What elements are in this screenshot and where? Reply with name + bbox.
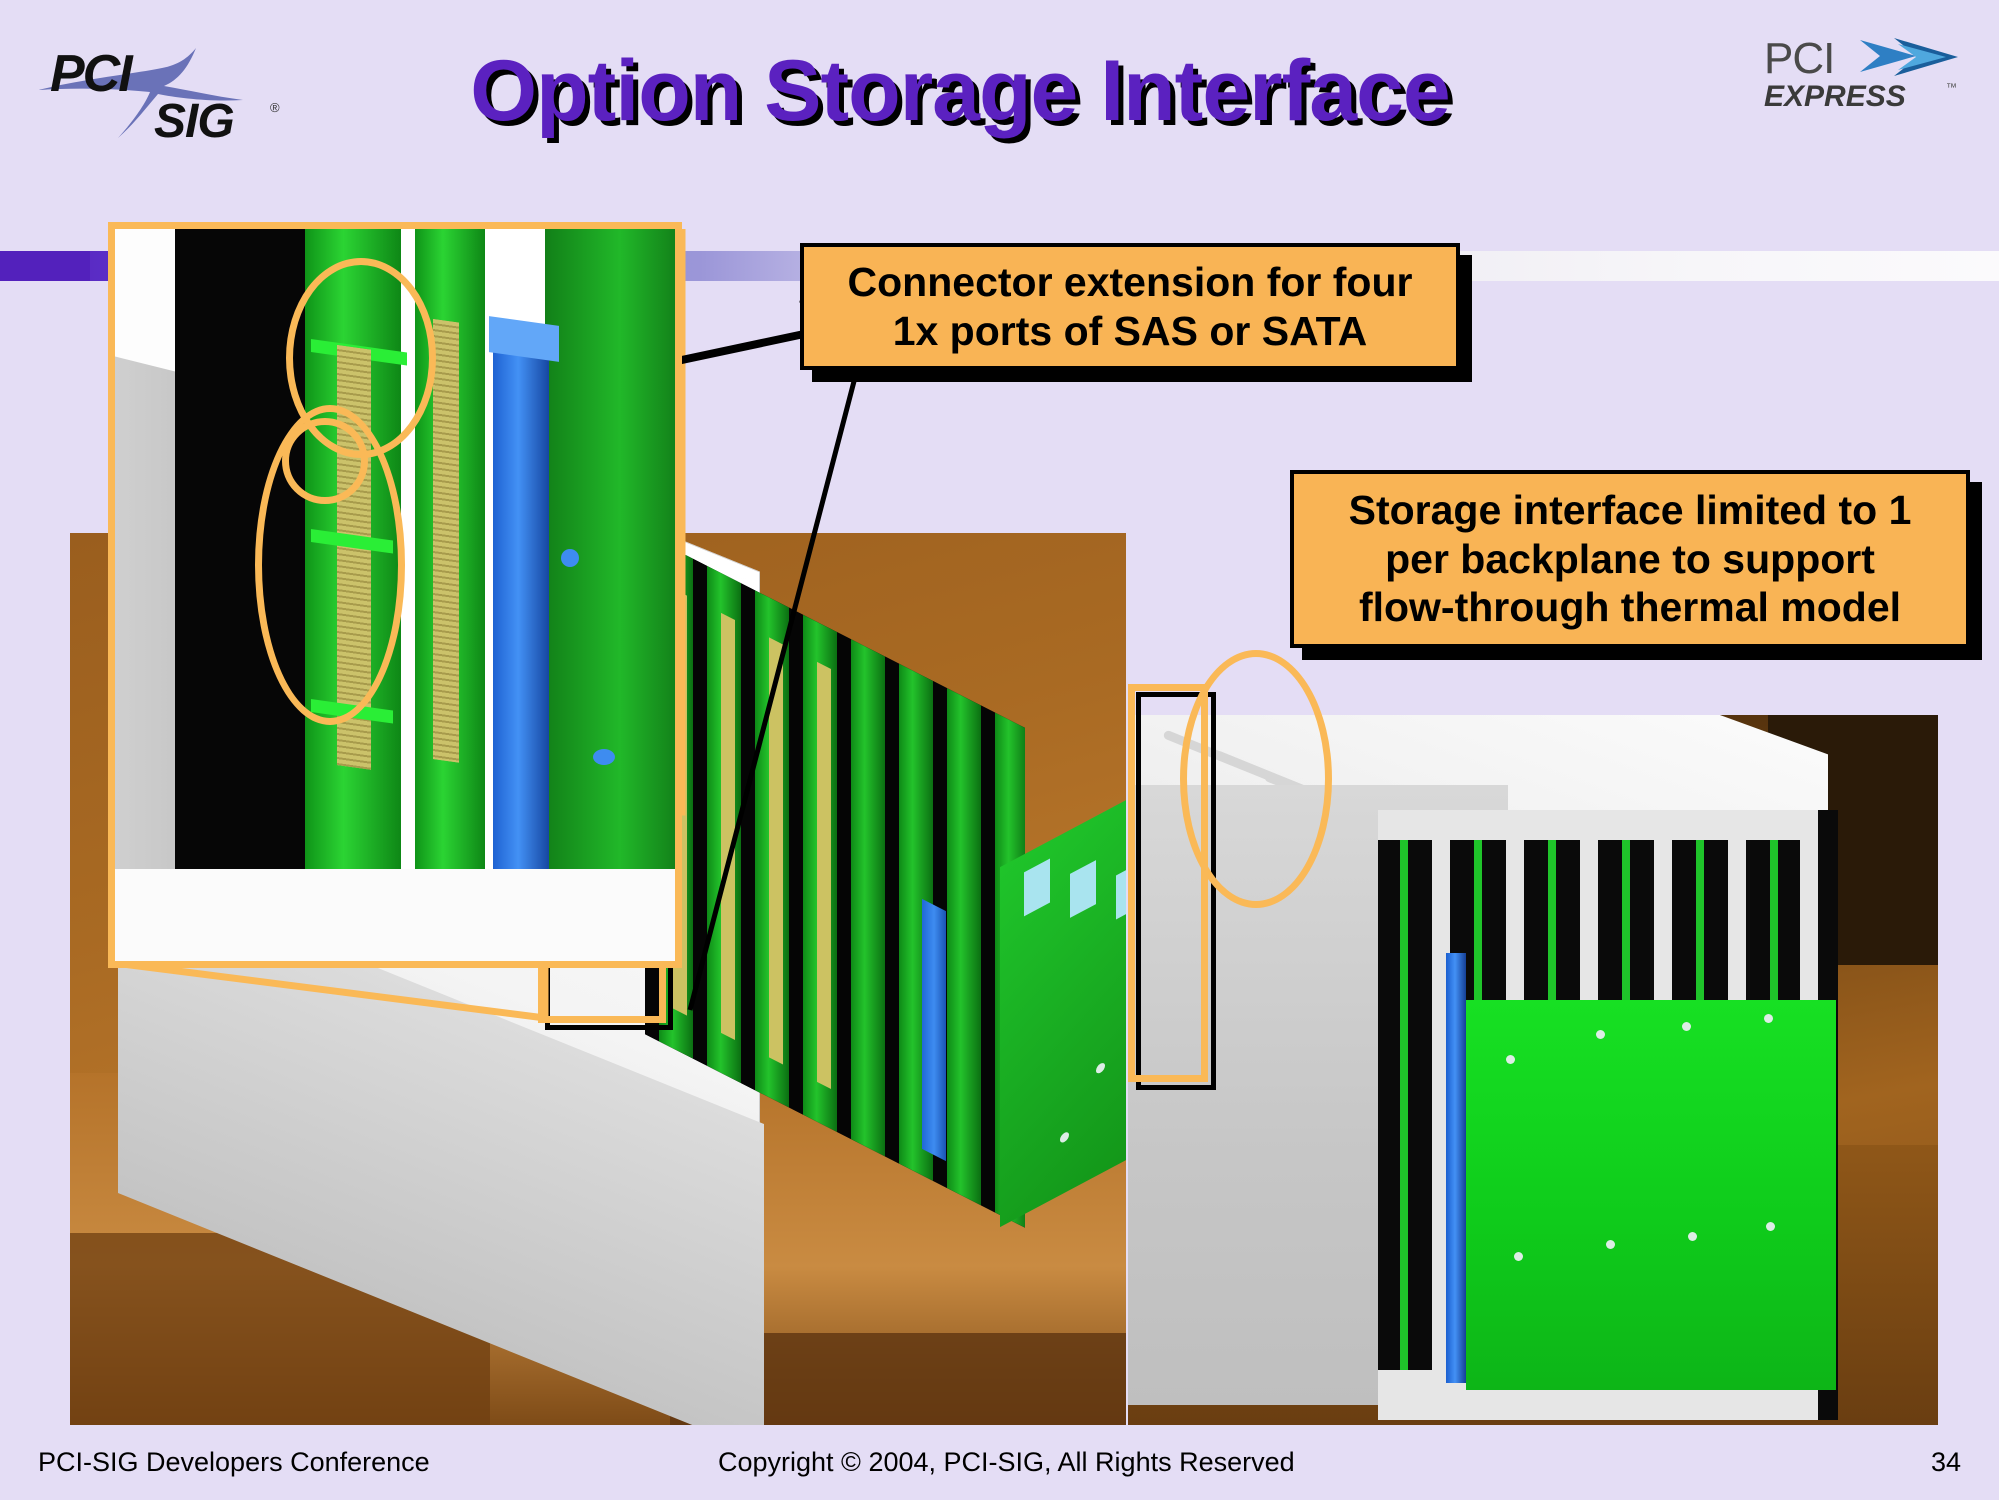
pci-express-chevron-icon [1858, 36, 1962, 80]
storage-interface-ellipse [1180, 650, 1332, 908]
pci-sig-logo: PCI SIG ® [38, 38, 288, 148]
storage-interface-callout-line2: per backplane to support [1349, 535, 1912, 583]
connector-detail-ellipse [282, 418, 368, 504]
pci-sig-pci-text: PCI [50, 44, 131, 104]
footer-page-number: 34 [1931, 1447, 1961, 1478]
pci-sig-sig-text: SIG [154, 94, 234, 149]
storage-interface-callout: Storage interface limited to 1 per backp… [1290, 470, 1970, 648]
right-backplane-pcb [1466, 1000, 1836, 1390]
pci-express-express-text: EXPRESS [1764, 80, 1906, 114]
pci-express-trademark-mark: ™ [1946, 82, 1957, 94]
slide-footer: PCI-SIG Developers Conference Copyright … [0, 1425, 1999, 1500]
footer-conference-name: PCI-SIG Developers Conference [38, 1447, 430, 1478]
connector-extension-callout-line2: 1x ports of SAS or SATA [848, 307, 1413, 355]
pci-express-logo: PCI EXPRESS ™ [1762, 34, 1962, 130]
blue-connector-card [922, 899, 946, 1161]
slide-header: PCI SIG ® Option Storage Interface PCI E… [0, 0, 1999, 222]
right-blue-connector [1446, 953, 1466, 1383]
pci-express-pci-text: PCI [1764, 34, 1834, 84]
pci-sig-registered-mark: ® [270, 100, 280, 115]
storage-interface-callout-line3: flow-through thermal model [1349, 583, 1912, 631]
footer-copyright: Copyright © 2004, PCI-SIG, All Rights Re… [718, 1447, 1295, 1478]
connector-extension-callout-line1: Connector extension for four [848, 258, 1413, 306]
connector-extension-callout: Connector extension for four 1x ports of… [800, 243, 1460, 370]
page-title: Option Storage Interface [300, 42, 1620, 141]
storage-interface-callout-line1: Storage interface limited to 1 [1349, 486, 1912, 534]
